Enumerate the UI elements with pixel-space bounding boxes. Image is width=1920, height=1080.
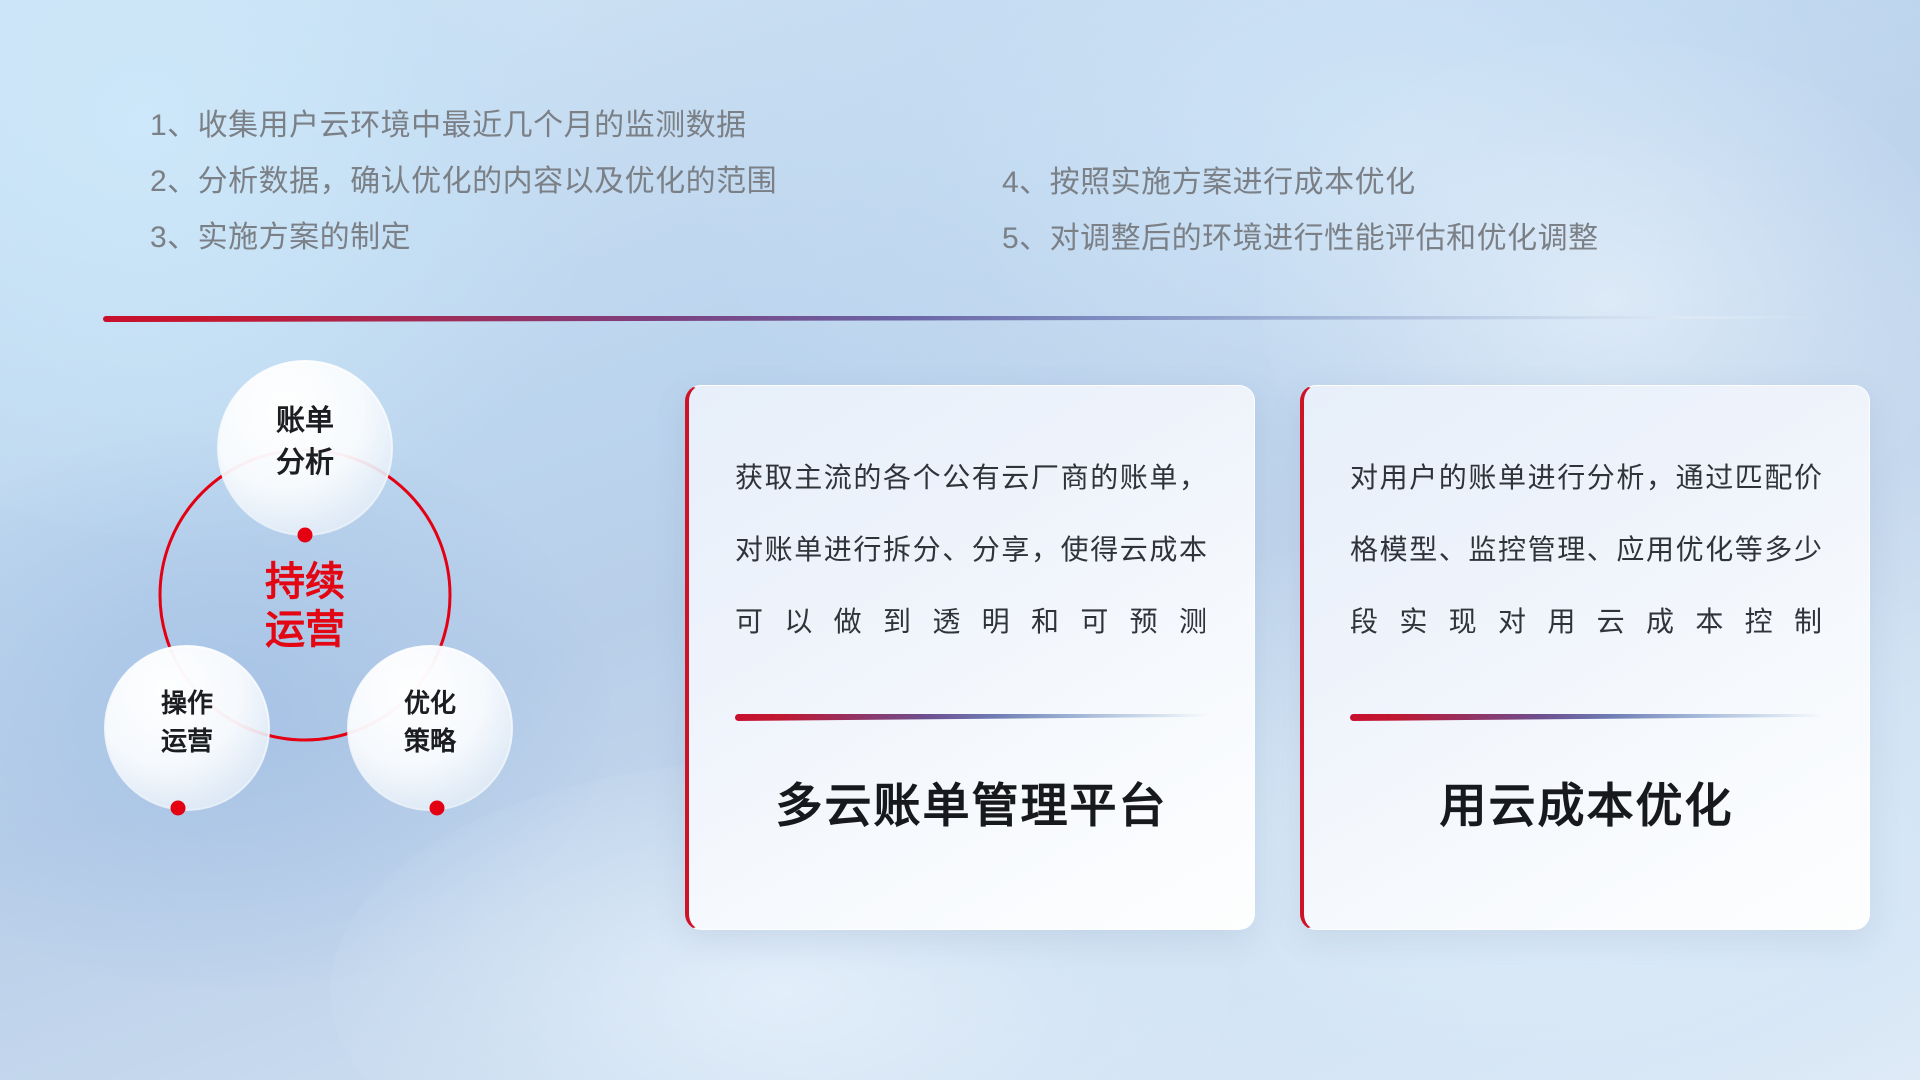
step-item-2: 2、分析数据，确认优化的内容以及优化的范围 bbox=[150, 154, 777, 210]
card-body-text: 获取主流的各个公有云厂商的账单，对账单进行拆分、分享，使得云成本可以做到透明和可… bbox=[735, 442, 1208, 674]
steps-list-right: 4、按照实施方案进行成本优化 5、对调整后的环境进行性能评估和优化调整 bbox=[1002, 155, 1599, 267]
card-divider bbox=[1350, 714, 1823, 721]
bubble-label-bottom-right-line2: 策略 bbox=[404, 726, 457, 756]
bubble-label-bottom-left-line1: 操作 bbox=[161, 688, 213, 718]
card-multi-cloud-billing[interactable]: 获取主流的各个公有云厂商的账单，对账单进行拆分、分享，使得云成本可以做到透明和可… bbox=[685, 385, 1255, 930]
bubble-label-top-line2: 分析 bbox=[276, 446, 334, 479]
card-title: 用云成本优化 bbox=[1350, 767, 1823, 836]
step-item-5: 5、对调整后的环境进行性能评估和优化调整 bbox=[1002, 211, 1599, 267]
step-item-1: 1、收集用户云环境中最近几个月的监测数据 bbox=[150, 98, 777, 154]
continuous-operation-diagram: 账单 分析 操作 运营 优化 策略 持续 运营 bbox=[90, 330, 630, 930]
steps-list-left: 1、收集用户云环境中最近几个月的监测数据 2、分析数据，确认优化的内容以及优化的… bbox=[150, 98, 777, 266]
card-divider bbox=[735, 714, 1208, 721]
card-cloud-cost-optimization[interactable]: 对用户的账单进行分析，通过匹配价格模型、监控管理、应用优化等多少段实现对用云成本… bbox=[1300, 385, 1870, 930]
card-body-text: 对用户的账单进行分析，通过匹配价格模型、监控管理、应用优化等多少段实现对用云成本… bbox=[1350, 442, 1823, 674]
bubble-label-bottom-left-line2: 运营 bbox=[161, 726, 213, 756]
step-item-4: 4、按照实施方案进行成本优化 bbox=[1002, 155, 1599, 211]
diagram-center-label-line2: 运营 bbox=[265, 608, 345, 652]
node-dot-bottom-right bbox=[430, 801, 445, 816]
bubble-label-bottom-right-line1: 优化 bbox=[404, 688, 456, 718]
card-title: 多云账单管理平台 bbox=[735, 767, 1208, 836]
node-dot-bottom-left bbox=[171, 801, 186, 816]
step-item-3: 3、实施方案的制定 bbox=[150, 210, 777, 266]
bubble-label-top-line1: 账单 bbox=[276, 404, 334, 437]
diagram-center-label-line1: 持续 bbox=[265, 560, 345, 604]
section-divider-rule bbox=[103, 316, 1821, 322]
node-dot-top bbox=[298, 528, 313, 543]
slide-canvas: 1、收集用户云环境中最近几个月的监测数据 2、分析数据，确认优化的内容以及优化的… bbox=[0, 0, 1920, 1080]
